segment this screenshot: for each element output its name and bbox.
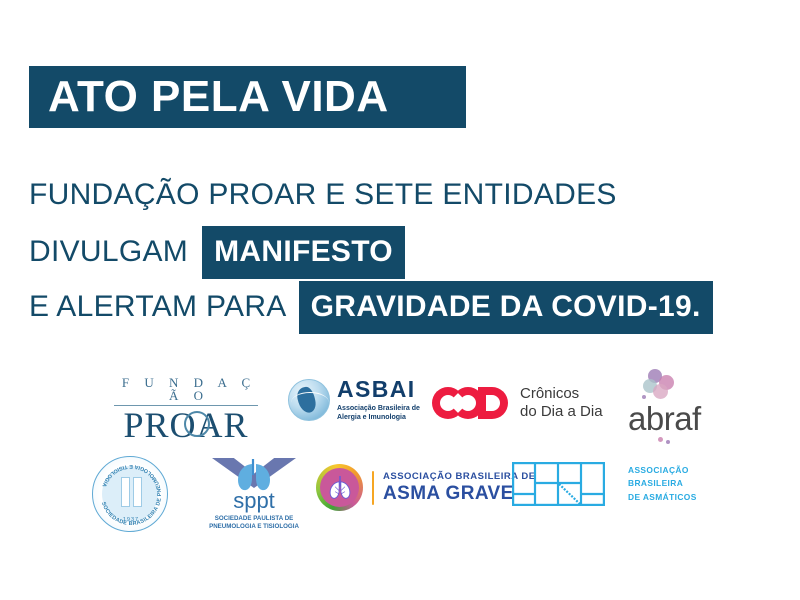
headline-line-2-text: DIVULGAM bbox=[29, 237, 188, 267]
proar-ring-icon bbox=[184, 411, 210, 437]
abraf-dot-6 bbox=[658, 437, 663, 442]
page-title: ATO PELA VIDA bbox=[48, 75, 389, 119]
cdd-line-2: do Dia a Dia bbox=[520, 403, 603, 421]
abra-text-block: ASSOCIAÇÃO BRASILEIRA DE ASMÁTICOS bbox=[628, 464, 697, 503]
logo-asma-grave: ASSOCIAÇÃO BRASILEIRA DE ASMA GRAVE bbox=[316, 464, 536, 511]
abra-line-1: ASSOCIAÇÃO bbox=[628, 464, 697, 477]
title-banner: ATO PELA VIDA bbox=[29, 66, 466, 128]
abraf-dot-4 bbox=[653, 384, 668, 399]
logo-sbpt: SOCIEDADE BRASILEIRA DE PNEUMOLOGIA E TI… bbox=[92, 456, 168, 532]
logo-section: F U N D A Ç Ã O PROAR ASBAI Associação B… bbox=[0, 362, 800, 538]
abra-line-3: DE ASMÁTICOS bbox=[628, 491, 697, 504]
sppt-subtitle: SOCIEDADE PAULISTA DE PNEUMOLOGIA E TISI… bbox=[200, 515, 308, 532]
globe-icon bbox=[288, 379, 330, 421]
headline-highlight-manifesto: MANIFESTO bbox=[202, 226, 405, 279]
abraf-dot-5 bbox=[642, 395, 646, 399]
proar-wordmark: PROAR bbox=[110, 407, 262, 443]
poster-canvas: ATO PELA VIDA FUNDAÇÃO PROAR E SETE ENTI… bbox=[0, 0, 800, 600]
cdd-d bbox=[478, 387, 508, 419]
asbai-wordmark: ASBAI bbox=[337, 378, 420, 401]
headline-line-2: DIVULGAM MANIFESTO bbox=[29, 229, 405, 275]
logo-abra-asmaticos: ASSOCIAÇÃO BRASILEIRA DE ASMÁTICOS bbox=[512, 462, 697, 506]
sbpt-seal-icon: SOCIEDADE BRASILEIRA DE PNEUMOLOGIA E TI… bbox=[92, 456, 168, 532]
headline-line-3: E ALERTAM PARA GRAVIDADE DA COVID-19. bbox=[29, 284, 713, 330]
asbai-subtitle-line-1: Associação Brasileira de bbox=[337, 404, 420, 413]
abraf-wordmark: abraf bbox=[628, 402, 714, 435]
cdd-text-block: Crônicos do Dia a Dia bbox=[520, 385, 603, 422]
logo-asbai: ASBAI Associação Brasileira de Alergia e… bbox=[288, 378, 420, 422]
asbai-text-block: ASBAI Associação Brasileira de Alergia e… bbox=[337, 378, 420, 422]
proar-fundacao-text: F U N D A Ç Ã O bbox=[110, 376, 262, 402]
headline-line-1-text: FUNDAÇÃO PROAR E SETE ENTIDADES bbox=[29, 180, 617, 210]
asbai-subtitle-line-2: Alergia e Imunologia bbox=[337, 413, 420, 422]
logo-sppt: sppt SOCIEDADE PAULISTA DE PNEUMOLOGIA E… bbox=[200, 454, 308, 532]
logo-row-1: F U N D A Ç Ã O PROAR ASBAI Associação B… bbox=[0, 362, 800, 450]
logo-row-2: SOCIEDADE BRASILEIRA DE PNEUMOLOGIA E TI… bbox=[0, 450, 800, 538]
asma-grave-ring-icon bbox=[316, 464, 363, 511]
asma-grave-divider bbox=[372, 471, 374, 505]
sppt-subtitle-line-2: PNEUMOLOGIA E TISIOLOGIA bbox=[200, 523, 308, 531]
asma-grave-lungs-icon bbox=[320, 468, 359, 507]
logo-cdd: Crônicos do Dia a Dia bbox=[432, 385, 603, 422]
sppt-subtitle-line-1: SOCIEDADE PAULISTA DE bbox=[200, 515, 308, 523]
abraf-dot-7 bbox=[666, 440, 670, 444]
lungs-icon bbox=[233, 456, 275, 494]
headline-line-3-text: E ALERTAM PARA bbox=[29, 292, 287, 322]
abraf-dots-small-icon bbox=[628, 435, 714, 447]
headline-line-1: FUNDAÇÃO PROAR E SETE ENTIDADES bbox=[29, 172, 617, 218]
cdd-monogram-icon bbox=[432, 387, 510, 419]
abraf-dots-icon bbox=[628, 368, 714, 402]
asbai-subtitle: Associação Brasileira de Alergia e Imuno… bbox=[337, 404, 420, 422]
logo-fundacao-proar: F U N D A Ç Ã O PROAR bbox=[110, 376, 262, 443]
abra-grid-icon bbox=[512, 462, 605, 506]
logo-abraf: abraf bbox=[628, 368, 714, 447]
abra-line-2: BRASILEIRA bbox=[628, 477, 697, 490]
sbpt-year: 1937 bbox=[93, 517, 169, 523]
headline-highlight-gravidade: GRAVIDADE DA COVID-19. bbox=[299, 281, 713, 334]
lungs-icon bbox=[326, 474, 354, 501]
sppt-icon bbox=[200, 454, 308, 496]
cdd-line-1: Crônicos bbox=[520, 385, 603, 403]
